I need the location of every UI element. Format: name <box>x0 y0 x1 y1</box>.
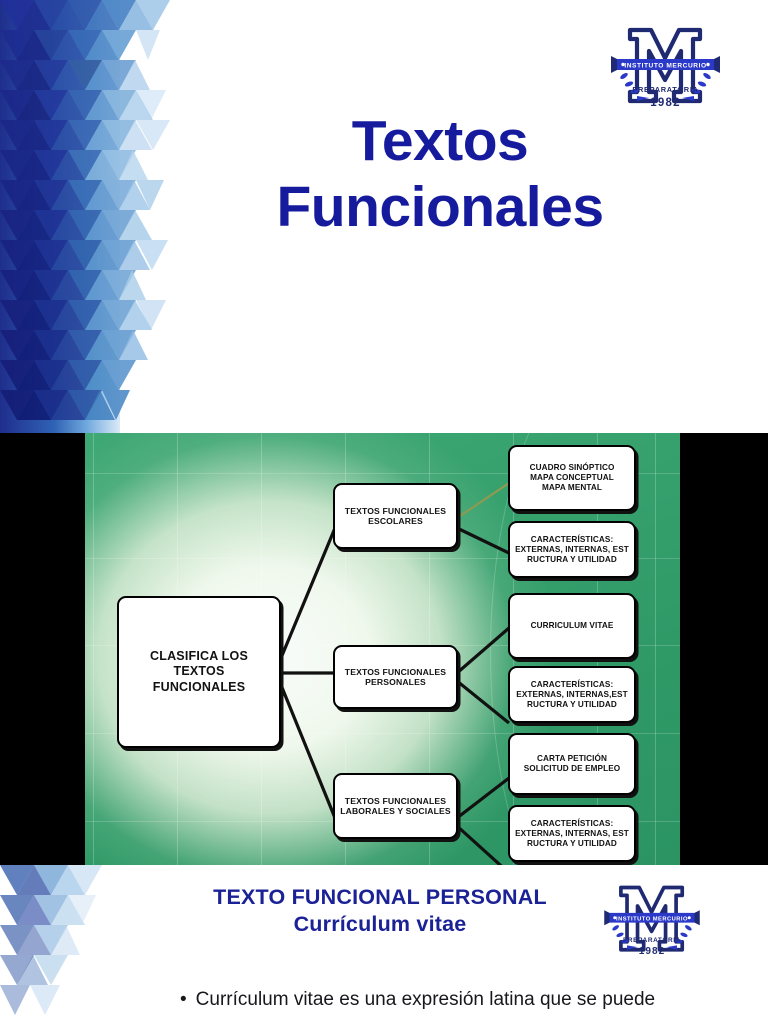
leaf1-line-2: MAPA CONCEPTUAL <box>530 473 615 483</box>
svg-text:PREPARATORIA: PREPARATORIA <box>623 937 681 944</box>
logo-preparatoria-text: PREPARATORIA <box>632 85 698 94</box>
root-line-3: FUNCIONALES <box>150 680 248 695</box>
svg-text:INSTITUTO MERCURIO: INSTITUTO MERCURIO <box>616 916 688 922</box>
slide-deck-page: INSTITUTO MERCURIO PREPARATORIA 1982 <box>0 0 768 1024</box>
logo-svg-bottom: INSTITUTO MERCURIO PREPARATORIA 1982 <box>597 877 707 962</box>
bullet-marker-icon: • <box>180 987 187 1013</box>
section-heading-line-1: TEXTO FUNCIONAL PERSONAL <box>150 885 610 911</box>
triangle-mosaic-decoration-top <box>0 0 185 433</box>
root-line-2: TEXTOS <box>150 664 248 679</box>
logo-svg-top: INSTITUTO MERCURIO PREPARATORIA 1982 <box>603 18 728 115</box>
bullet-text: Currículum vitae es una expresión latina… <box>196 989 655 1010</box>
section-heading-line-2: Currículum vitae <box>150 911 610 938</box>
leaf4-line-2: EXTERNAS, INTERNAS,EST <box>516 690 627 700</box>
grid-line-v <box>93 433 94 865</box>
leaf5-line-2: SOLICITUD DE EMPLEO <box>524 764 621 774</box>
branch2-line-2: PERSONALES <box>345 677 446 687</box>
leaf2-line-3: RUCTURA Y UTILIDAD <box>515 555 629 565</box>
svg-text:INSTITUTO MERCURIO: INSTITUTO MERCURIO <box>624 63 706 70</box>
leaf2-line-1: CARACTERÍSTICAS: <box>515 535 629 545</box>
diagram-leaf-caracteristicas-escolares[interactable]: CARACTERÍSTICAS: EXTERNAS, INTERNAS, EST… <box>508 521 636 578</box>
leaf2-line-2: EXTERNAS, INTERNAS, EST <box>515 545 629 555</box>
leaf6-line-2: EXTERNAS, INTERNAS, EST <box>515 829 629 839</box>
branch1-line-1: TEXTOS FUNCIONALES <box>345 506 446 516</box>
page-title-line-1: Textos <box>170 108 710 174</box>
diagram-leaf-caracteristicas-laborales[interactable]: CARACTERÍSTICAS: EXTERNAS, INTERNAS, EST… <box>508 805 636 862</box>
root-line-1: CLASIFICA LOS <box>150 649 248 664</box>
diagram-node-branch-laborales[interactable]: TEXTOS FUNCIONALES LABORALES Y SOCIALES <box>333 773 458 839</box>
connector-root-branch3 <box>281 685 335 818</box>
leaf4-line-3: RUCTURA Y UTILIDAD <box>516 700 627 710</box>
institution-logo-bottom: INSTITUTO MERCURIO PREPARATORIA 1982 <box>597 877 707 962</box>
connector-root-branch1 <box>281 528 335 658</box>
classification-diagram: CLASIFICA LOS TEXTOS FUNCIONALES TEXTOS … <box>85 433 680 865</box>
diagram-node-branch-escolares[interactable]: TEXTOS FUNCIONALES ESCOLARES <box>333 483 458 549</box>
diagram-leaf-carta-peticion[interactable]: CARTA PETICIÓN SOLICITUD DE EMPLEO <box>508 733 636 795</box>
leaf1-line-3: MAPA MENTAL <box>530 483 615 493</box>
title-slide: INSTITUTO MERCURIO PREPARATORIA 1982 <box>0 0 768 433</box>
section-heading: TEXTO FUNCIONAL PERSONAL Currículum vita… <box>150 885 610 938</box>
connector-branch3-leaf6 <box>457 826 509 865</box>
diagram-node-root[interactable]: CLASIFICA LOS TEXTOS FUNCIONALES <box>117 596 281 748</box>
svg-text:1982: 1982 <box>639 946 666 957</box>
page-title-line-2: Funcionales <box>170 174 710 240</box>
page-title: Textos Funcionales <box>170 108 710 240</box>
diagram-node-branch-personales[interactable]: TEXTOS FUNCIONALES PERSONALES <box>333 645 458 709</box>
mosaic-svg <box>0 0 185 433</box>
leaf4-line-1: CARACTERÍSTICAS: <box>516 680 627 690</box>
leaf6-line-3: RUCTURA Y UTILIDAD <box>515 839 629 849</box>
content-slide: TEXTO FUNCIONAL PERSONAL Currículum vita… <box>0 865 768 1024</box>
diagram-slide: CLASIFICA LOS TEXTOS FUNCIONALES TEXTOS … <box>0 433 768 865</box>
leaf6-line-1: CARACTERÍSTICAS: <box>515 819 629 829</box>
diagram-leaf-cuadro-sinoptico[interactable]: CUADRO SINÓPTICO MAPA CONCEPTUAL MAPA ME… <box>508 445 636 511</box>
connector-branch1-leaf1 <box>457 483 509 518</box>
leaf5-line-1: CARTA PETICIÓN <box>524 754 621 764</box>
leaf3-line-1: CURRICULUM VITAE <box>531 621 614 631</box>
bullet-paragraph: •Currículum vitae es una expresión latin… <box>180 987 720 1013</box>
institution-logo-top: INSTITUTO MERCURIO PREPARATORIA 1982 <box>603 18 728 115</box>
branch1-line-2: ESCOLARES <box>345 516 446 526</box>
branch3-line-1: TEXTOS FUNCIONALES <box>340 796 451 806</box>
diagram-leaf-caracteristicas-personales[interactable]: CARACTERÍSTICAS: EXTERNAS, INTERNAS,EST … <box>508 666 636 723</box>
branch2-line-1: TEXTOS FUNCIONALES <box>345 667 446 677</box>
leaf1-line-1: CUADRO SINÓPTICO <box>530 463 615 473</box>
branch3-line-2: LABORALES Y SOCIALES <box>340 806 451 816</box>
diagram-leaf-curriculum-vitae[interactable]: CURRICULUM VITAE <box>508 593 636 659</box>
